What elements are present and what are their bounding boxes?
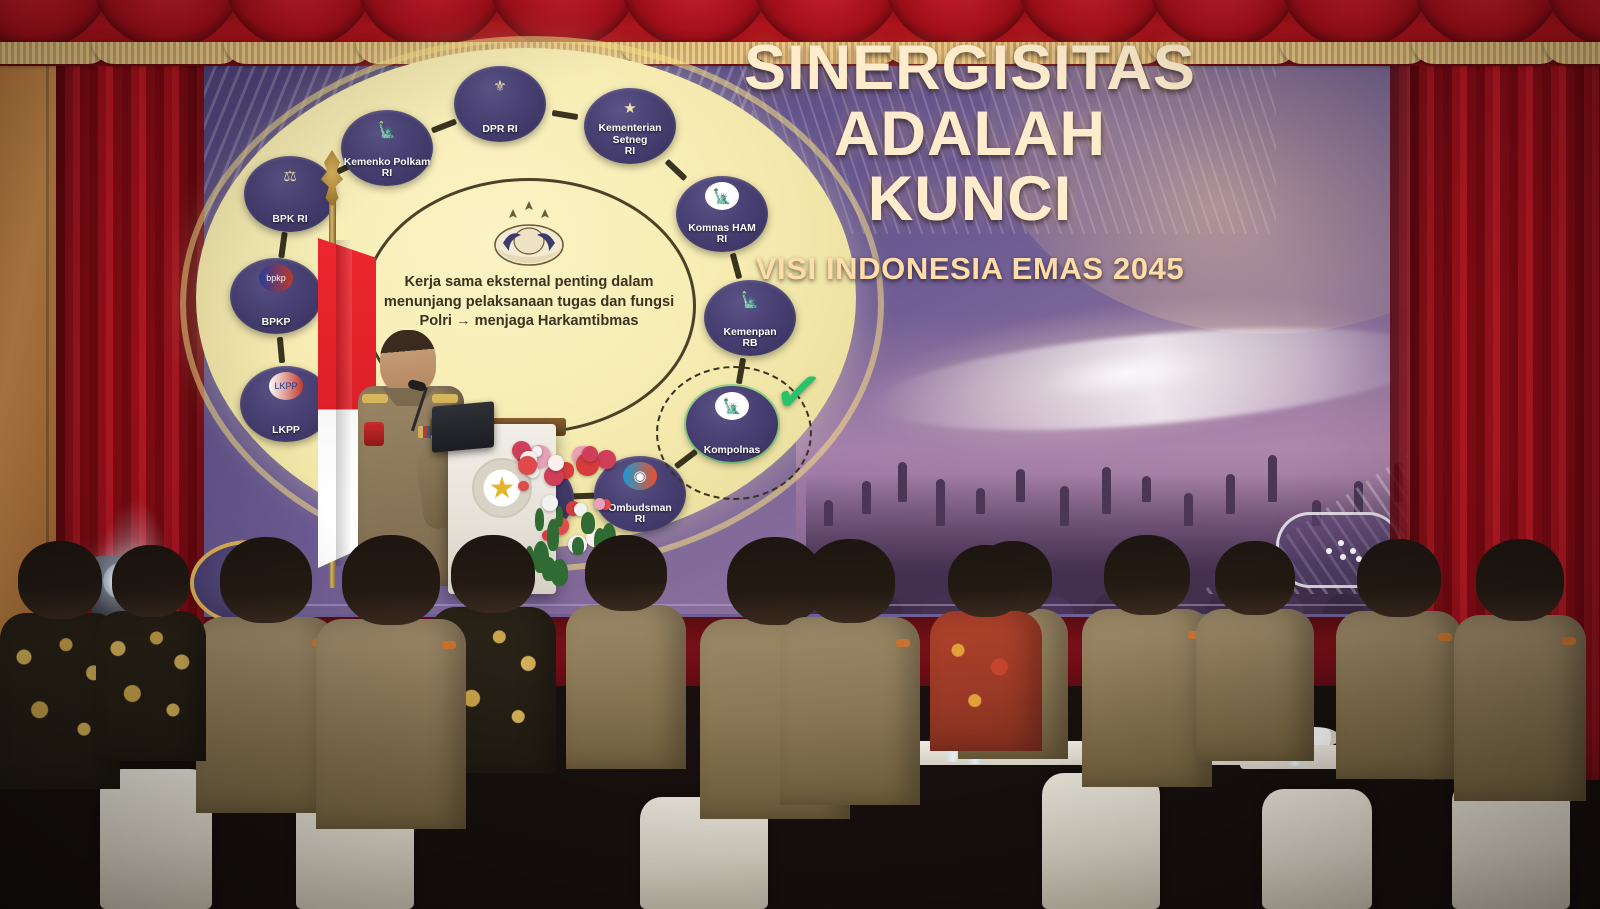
valance-scallop bbox=[224, 0, 374, 48]
valance-scallop bbox=[1280, 0, 1430, 48]
flower-icon bbox=[518, 481, 528, 491]
lkpp-icon: LKPP bbox=[269, 372, 303, 400]
uniform-shoulder-patch bbox=[896, 639, 910, 647]
audience-member bbox=[316, 529, 466, 829]
diagram-node-bpk-ri: ⚖BPK RI bbox=[244, 156, 336, 232]
raised-fist-icon bbox=[1102, 467, 1111, 514]
audience-area bbox=[0, 509, 1600, 909]
audience-member-torso bbox=[1196, 609, 1314, 761]
flower-icon bbox=[582, 446, 598, 462]
audience-member-head bbox=[1215, 541, 1295, 615]
audience-member bbox=[780, 533, 920, 805]
raised-fist-icon bbox=[1142, 476, 1151, 502]
diagram-node-kemenpan-rb: 🗽KemenpanRB bbox=[704, 280, 796, 356]
audience-member bbox=[96, 539, 206, 761]
diagram-node-setneg: ★Kementerian SetnegRI bbox=[584, 88, 676, 164]
headline-subtitle: VISI INDONESIA EMAS 2045 bbox=[690, 251, 1250, 287]
diagram-node-label: Kemenko PolkamRI bbox=[341, 157, 433, 179]
audience-member bbox=[1454, 533, 1586, 801]
valance-scallop bbox=[1544, 0, 1600, 48]
audience-member-head bbox=[1476, 539, 1564, 621]
raised-fist-icon bbox=[1226, 474, 1235, 514]
flower-icon bbox=[597, 450, 615, 468]
audience-member bbox=[1336, 533, 1462, 779]
valance-fringe bbox=[1412, 42, 1562, 64]
raised-fist-icon bbox=[1268, 455, 1277, 502]
valance-scallop bbox=[1412, 0, 1562, 48]
audience-member-head bbox=[342, 535, 440, 625]
bpkp-icon: bpkp bbox=[259, 264, 293, 292]
diagram-node-dpr-ri: ⚜DPR RI bbox=[454, 66, 546, 142]
audience-member-torso bbox=[930, 611, 1042, 751]
garuda-shield-icon: 🗽 bbox=[370, 116, 404, 144]
uniform-shoulder-patch bbox=[1562, 637, 1576, 645]
audience-member-head bbox=[112, 545, 190, 617]
diagram-node-label: BPKP bbox=[230, 317, 322, 328]
diagram-node-bpkp: bpkpBPKP bbox=[230, 258, 322, 334]
audience-member bbox=[566, 529, 686, 769]
audience-member-head bbox=[1104, 535, 1190, 615]
speaker-epaulette-right bbox=[432, 394, 458, 403]
audience-member-head bbox=[948, 545, 1024, 617]
audience-member-head bbox=[18, 541, 102, 619]
audience-member-head bbox=[805, 539, 895, 623]
audience-chair bbox=[1042, 773, 1160, 909]
audience-chair bbox=[1262, 789, 1372, 909]
audience-member-head bbox=[220, 537, 312, 623]
star-crest-icon: ★ bbox=[613, 94, 647, 122]
audience-member bbox=[196, 531, 336, 813]
headline-line-1: SINERGISITAS bbox=[690, 36, 1250, 102]
diagram-node-label: DPR RI bbox=[454, 124, 546, 135]
valance-scallop bbox=[0, 0, 110, 48]
diagram-node-label: BPK RI bbox=[244, 214, 336, 225]
flower-icon bbox=[518, 456, 537, 475]
valance-fringe bbox=[1544, 42, 1600, 64]
uniform-shoulder-patch bbox=[1438, 633, 1452, 641]
flower-icon bbox=[548, 455, 564, 471]
headline-line-2: ADALAH bbox=[690, 102, 1250, 168]
headline-line-3: KUNCI bbox=[690, 167, 1250, 233]
diagram-node-label: Kementerian SetnegRI bbox=[584, 123, 676, 157]
bpk-crest-icon: ⚖ bbox=[273, 162, 307, 190]
valance-fringe bbox=[1280, 42, 1430, 64]
polri-emblem-icon bbox=[473, 197, 585, 269]
podium-laptop bbox=[432, 401, 494, 452]
audience-member bbox=[930, 539, 1042, 751]
speaker-epaulette-left bbox=[362, 394, 388, 403]
slide-headline: SINERGISITAS ADALAH KUNCI VISI INDONESIA… bbox=[690, 36, 1250, 287]
audience-member-torso bbox=[566, 605, 686, 769]
diagram-node-kemenko-polkam: 🗽Kemenko PolkamRI bbox=[341, 110, 433, 186]
audience-member bbox=[1082, 529, 1212, 787]
audience-member-torso bbox=[316, 619, 466, 829]
panrb-icon: 🗽 bbox=[733, 286, 767, 314]
valance-scallop bbox=[92, 0, 242, 48]
speaker-shoulder-patch bbox=[364, 422, 384, 446]
uniform-shoulder-patch bbox=[442, 641, 456, 649]
flower-icon bbox=[594, 498, 605, 509]
dpr-crest-icon: ⚜ bbox=[483, 72, 517, 100]
audience-member-head bbox=[1357, 539, 1441, 617]
kompolnas-check-icon: ✓ bbox=[770, 361, 826, 425]
seminar-stage-photo: SINERGISITAS ADALAH KUNCI VISI INDONESIA… bbox=[0, 0, 1600, 909]
audience-member-head bbox=[585, 535, 667, 611]
diagram-node-label: KemenpanRB bbox=[704, 327, 796, 349]
diagram-center-text: Kerja sama eksternal penting dalam menun… bbox=[375, 273, 683, 332]
audience-member bbox=[1196, 535, 1314, 761]
audience-member-torso bbox=[96, 611, 206, 761]
